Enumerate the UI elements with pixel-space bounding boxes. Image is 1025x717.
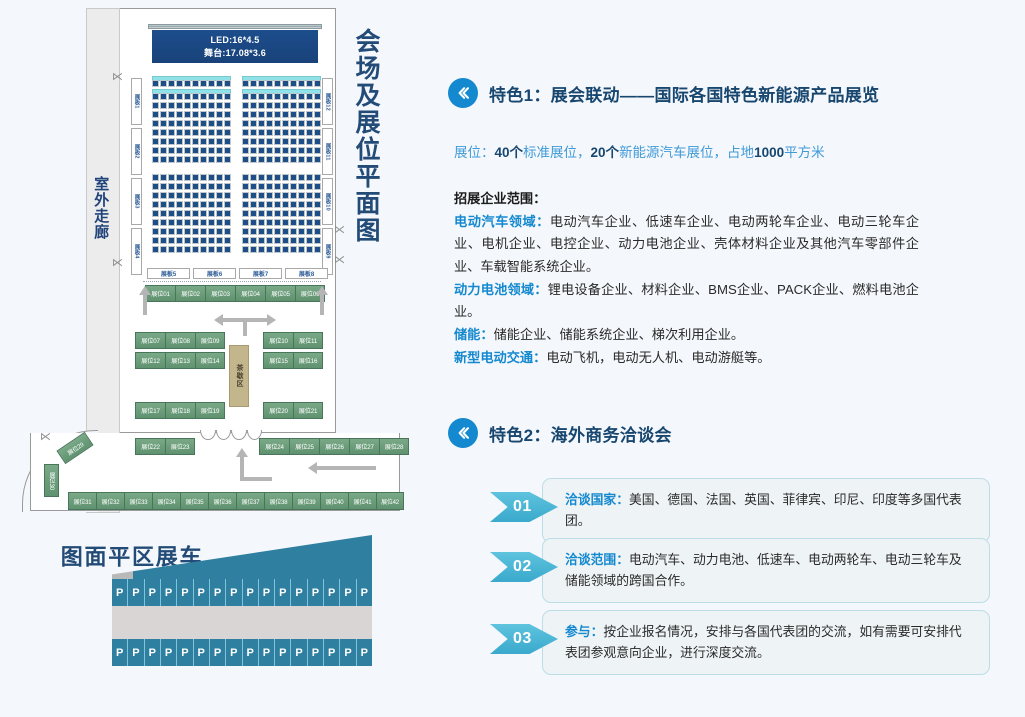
seat	[184, 210, 191, 217]
seat	[274, 93, 281, 100]
seat	[242, 210, 249, 217]
booth-36: 展位36	[208, 492, 236, 510]
parking-slot: P	[194, 579, 210, 606]
car-plan-roof	[112, 535, 372, 583]
seat	[184, 120, 191, 127]
booth-33: 展位33	[124, 492, 152, 510]
seat	[224, 192, 231, 199]
summary-standard-text: 标准展位，	[523, 145, 591, 160]
door-icon-right-top: ⋉	[334, 225, 345, 236]
seat	[160, 210, 167, 217]
seat	[242, 219, 249, 226]
seat	[274, 192, 281, 199]
seat	[152, 246, 159, 253]
seat	[168, 237, 175, 244]
seat	[298, 192, 305, 199]
seat	[224, 219, 231, 226]
seat	[208, 237, 215, 244]
seat	[266, 138, 273, 145]
seat	[306, 201, 313, 208]
seat	[282, 111, 289, 118]
seat	[242, 192, 249, 199]
seat	[274, 111, 281, 118]
seat	[216, 219, 223, 226]
seat	[152, 80, 159, 87]
parking-slot: P	[226, 639, 242, 666]
booth-14: 展位14	[195, 352, 225, 369]
seat-row	[242, 102, 321, 109]
content-panel: 特色1：展会联动——国际各国特色新能源产品展览 展位：40个标准展位，20个新能…	[440, 0, 1025, 717]
scope-category-label: 电动汽车领域：	[454, 214, 550, 229]
seat-row	[152, 102, 231, 109]
seat	[250, 147, 257, 154]
seat	[184, 219, 191, 226]
parking-slot: P	[194, 639, 210, 666]
seat	[242, 102, 249, 109]
seat	[160, 93, 167, 100]
card-number: 02	[513, 558, 532, 576]
booth-04: 展位04	[235, 285, 265, 302]
seat	[290, 129, 297, 136]
booth-row-22-23: 展位22展位23	[135, 438, 195, 455]
seat	[290, 192, 297, 199]
seat	[314, 102, 321, 109]
feature1-booth-summary: 展位：40个标准展位，20个新能源汽车展位，占地1000平方米	[454, 142, 825, 164]
seat	[250, 237, 257, 244]
scope-category: 新型电动交通：电动飞机，电动无人机、电动游艇等。	[454, 347, 919, 369]
parking-slot: P	[128, 639, 144, 666]
booth-row-12-14: 展位12展位13展位14	[135, 352, 225, 369]
seat	[160, 201, 167, 208]
booth-37: 展位37	[236, 492, 264, 510]
parking-slot: P	[112, 579, 128, 606]
seat	[258, 129, 265, 136]
seat	[314, 80, 321, 87]
parking-slot: P	[243, 579, 259, 606]
seat	[200, 237, 207, 244]
seat	[266, 246, 273, 253]
seat-row	[242, 111, 321, 118]
seat	[224, 201, 231, 208]
display-panel-left-2: 展板2	[131, 128, 142, 175]
seat	[160, 102, 167, 109]
seat	[152, 219, 159, 226]
seat	[192, 111, 199, 118]
seat	[216, 129, 223, 136]
seat	[290, 147, 297, 154]
seat	[152, 174, 159, 181]
seat	[184, 228, 191, 235]
seat	[168, 201, 175, 208]
seat	[192, 219, 199, 226]
seat-row	[242, 129, 321, 136]
seat	[258, 156, 265, 163]
seat	[274, 147, 281, 154]
seat	[152, 111, 159, 118]
seat	[184, 192, 191, 199]
display-panel-left-1: 展板1	[131, 78, 142, 125]
seat	[298, 111, 305, 118]
seat	[314, 120, 321, 127]
seat	[176, 183, 183, 190]
booth-39: 展位39	[292, 492, 320, 510]
seat	[192, 147, 199, 154]
seat	[282, 174, 289, 181]
parking-slot: P	[128, 579, 144, 606]
seat	[152, 138, 159, 145]
booth-17: 展位17	[135, 402, 165, 419]
seat	[306, 156, 313, 163]
scope-category-label: 储能：	[454, 327, 494, 342]
seat	[160, 174, 167, 181]
seating-block-right	[242, 76, 321, 253]
seat	[192, 174, 199, 181]
display-panel-bottom-3: 展板7	[239, 268, 282, 279]
seat	[258, 120, 265, 127]
seat	[168, 246, 175, 253]
card-text: 按企业报名情况，安排与各国代表团的交流，如有需要可安排代表团参观意向企业，进行深…	[565, 624, 962, 660]
seat	[176, 93, 183, 100]
seat	[192, 93, 199, 100]
booth-row-17-19: 展位17展位18展位19	[135, 402, 225, 419]
seat	[216, 183, 223, 190]
seat	[298, 210, 305, 217]
seat	[298, 201, 305, 208]
seat	[208, 80, 215, 87]
seat	[274, 246, 281, 253]
seat	[184, 102, 191, 109]
seat	[176, 129, 183, 136]
seat	[168, 138, 175, 145]
seat	[290, 183, 297, 190]
card-body: 洽谈国家：美国、德国、法国、英国、菲律宾、印尼、印度等多国代表团。	[542, 478, 990, 543]
card-body: 洽谈范围：电动汽车、动力电池、低速车、电动两轮车、电动三轮车及储能领域的跨国合作…	[542, 538, 990, 603]
seat	[298, 246, 305, 253]
seat	[242, 156, 249, 163]
seat	[258, 93, 265, 100]
seat	[282, 192, 289, 199]
seat	[314, 147, 321, 154]
booth-09: 展位09	[195, 332, 225, 349]
seat	[200, 111, 207, 118]
seat	[176, 237, 183, 244]
flow-arrow-up-right	[316, 286, 328, 295]
seat-row	[152, 210, 231, 217]
flow-arrow-up-entrance	[236, 448, 248, 457]
seat	[250, 219, 257, 226]
booth-08: 展位08	[165, 332, 195, 349]
booth-11: 展位11	[293, 332, 323, 349]
seat	[200, 219, 207, 226]
negotiation-card: 03 参与：按企业报名情况，安排与各国代表团的交流，如有需要可安排代表团参观意向…	[490, 610, 990, 675]
seat	[200, 201, 207, 208]
stage-size: 舞台:17.08*3.6	[204, 47, 266, 59]
scope-category: 电动汽车领域：电动汽车企业、低速车企业、电动两轮车企业、电动三轮车企业、电机企业…	[454, 211, 919, 278]
seat	[200, 102, 207, 109]
seat	[208, 192, 215, 199]
seat	[282, 237, 289, 244]
seat-row	[242, 219, 321, 226]
seat	[250, 183, 257, 190]
parking-slot: P	[275, 579, 291, 606]
outdoor-corridor-label: 室外走廊	[92, 176, 108, 240]
seat	[168, 183, 175, 190]
booth-07: 展位07	[135, 332, 165, 349]
seat	[242, 138, 249, 145]
seat	[208, 138, 215, 145]
aisle-gap	[152, 165, 231, 172]
seat	[168, 111, 175, 118]
booth-19: 展位19	[195, 402, 225, 419]
seat	[266, 147, 273, 154]
parking-slot: P	[291, 579, 307, 606]
booth-27: 展位27	[349, 438, 379, 455]
seat	[168, 129, 175, 136]
seat	[152, 210, 159, 217]
seat	[250, 174, 257, 181]
seat-row	[152, 120, 231, 127]
seat	[314, 93, 321, 100]
seat	[306, 102, 313, 109]
seat	[266, 156, 273, 163]
seat-row	[152, 228, 231, 235]
seat	[224, 156, 231, 163]
seat	[250, 129, 257, 136]
seat	[192, 228, 199, 235]
seat-row	[242, 174, 321, 181]
parking-slot: P	[357, 639, 372, 666]
seat	[192, 237, 199, 244]
seat	[290, 228, 297, 235]
seat	[176, 174, 183, 181]
seat	[274, 120, 281, 127]
seat	[160, 138, 167, 145]
seat	[242, 111, 249, 118]
seat	[176, 228, 183, 235]
seat	[216, 228, 223, 235]
seat	[160, 237, 167, 244]
seat	[168, 192, 175, 199]
double-chevron-left-icon	[448, 78, 478, 108]
booth-10: 展位10	[263, 332, 293, 349]
seat	[160, 147, 167, 154]
parking-slot: P	[145, 639, 161, 666]
seat	[250, 201, 257, 208]
flow-arrow-up-left	[139, 286, 151, 295]
card-label: 洽谈国家：	[565, 492, 629, 507]
seat	[314, 237, 321, 244]
parking-row-bottom: PPPPPPPPPPPPPPPP	[112, 639, 372, 666]
seat	[200, 138, 207, 145]
seat	[250, 228, 257, 235]
seat-row	[242, 246, 321, 253]
parking-slot: P	[291, 639, 307, 666]
seat-row	[242, 156, 321, 163]
seat	[192, 138, 199, 145]
seat	[168, 174, 175, 181]
booth-18: 展位18	[165, 402, 195, 419]
seat	[290, 102, 297, 109]
seat	[266, 129, 273, 136]
scope-category: 储能：储能企业、储能系统企业、梯次利用企业。	[454, 324, 919, 346]
seat	[192, 210, 199, 217]
seat	[298, 174, 305, 181]
seat	[152, 201, 159, 208]
booth-42: 展位42	[376, 492, 404, 510]
booth-30: 展位30	[44, 464, 59, 497]
seat	[160, 246, 167, 253]
seat	[192, 102, 199, 109]
card-body: 参与：按企业报名情况，安排与各国代表团的交流，如有需要可安排代表团参观意向企业，…	[542, 610, 990, 675]
seat	[200, 93, 207, 100]
seat	[200, 129, 207, 136]
door-icon-left-bottom: ⋉	[112, 258, 123, 269]
seat	[282, 93, 289, 100]
seat	[258, 192, 265, 199]
seat	[184, 174, 191, 181]
parking-row-top: PPPPPPPPPPPPPPPP	[112, 579, 372, 606]
booth-40: 展位40	[320, 492, 348, 510]
seat	[152, 102, 159, 109]
seat	[298, 237, 305, 244]
scope-category-text: 电动飞机，电动无人机、电动游艇等。	[546, 350, 770, 365]
seat	[274, 138, 281, 145]
feature2-title: 特色2：海外商务洽谈会	[489, 421, 672, 446]
summary-area-unit: 平方米	[784, 145, 825, 160]
booth-02: 展位02	[175, 285, 205, 302]
seat	[282, 138, 289, 145]
booth-28: 展位28	[379, 438, 409, 455]
seat-row	[152, 138, 231, 145]
seat-row	[242, 210, 321, 217]
seat	[242, 93, 249, 100]
parking-slot: P	[324, 579, 340, 606]
seat	[266, 237, 273, 244]
seat	[184, 80, 191, 87]
seat	[250, 156, 257, 163]
booth-22: 展位22	[135, 438, 165, 455]
seat	[200, 192, 207, 199]
seat	[290, 201, 297, 208]
seat	[290, 80, 297, 87]
parking-slot: P	[177, 639, 193, 666]
parking-slot: P	[112, 639, 128, 666]
seat	[176, 192, 183, 199]
summary-ev-text: 新能源汽车展位，占地	[619, 145, 754, 160]
seat	[224, 246, 231, 253]
stage-led-screen: LED:16*4.5 舞台:17.08*3.6	[152, 30, 318, 63]
seat	[200, 246, 207, 253]
parking-slot: P	[259, 579, 275, 606]
seat	[152, 93, 159, 100]
booth-26: 展位26	[319, 438, 349, 455]
seat	[242, 246, 249, 253]
parking-slot: P	[259, 639, 275, 666]
seat	[200, 210, 207, 217]
seat	[314, 201, 321, 208]
panel-divider-line	[143, 281, 321, 282]
seat	[176, 147, 183, 154]
seat	[168, 147, 175, 154]
seat	[216, 120, 223, 127]
seat-row	[242, 201, 321, 208]
seat-row	[242, 183, 321, 190]
seat	[224, 80, 231, 87]
seat	[290, 138, 297, 145]
booth-15: 展位15	[263, 352, 293, 369]
seat	[224, 228, 231, 235]
seat	[314, 156, 321, 163]
seat	[258, 80, 265, 87]
seat	[298, 138, 305, 145]
seat	[168, 156, 175, 163]
booth-row-10-11: 展位10展位11	[263, 332, 323, 349]
vip-seat-row	[152, 89, 231, 99]
seat	[242, 174, 249, 181]
seat	[152, 192, 159, 199]
seat	[184, 129, 191, 136]
display-panel-right-2: 展板11	[322, 128, 333, 175]
seat	[152, 183, 159, 190]
seat	[216, 174, 223, 181]
seat	[266, 102, 273, 109]
booth-23: 展位23	[165, 438, 195, 455]
seat	[192, 192, 199, 199]
summary-ev-count: 20个	[591, 145, 620, 160]
display-panel-left-4: 展板4	[131, 228, 142, 275]
seat-row	[242, 147, 321, 154]
seat	[282, 80, 289, 87]
seat	[152, 228, 159, 235]
car-exhibition-plan: PPPPPPPPPPPPPPPP PPPPPPPPPPPPPPPP	[112, 535, 372, 680]
seat	[242, 147, 249, 154]
seat	[152, 237, 159, 244]
seat	[282, 183, 289, 190]
seat	[200, 120, 207, 127]
seat	[224, 138, 231, 145]
door-icon-left-top: ⋉	[112, 72, 123, 83]
seat	[224, 102, 231, 109]
scope-category-label: 动力电池领域：	[454, 282, 548, 297]
seat	[274, 183, 281, 190]
seat	[266, 80, 273, 87]
seat	[258, 183, 265, 190]
seat	[266, 120, 273, 127]
seat	[282, 201, 289, 208]
seat	[306, 174, 313, 181]
seat	[258, 219, 265, 226]
seat	[216, 111, 223, 118]
booth-24: 展位24	[259, 438, 289, 455]
vip-seat-row	[242, 76, 321, 86]
seat	[160, 156, 167, 163]
seat	[282, 219, 289, 226]
seat	[274, 210, 281, 217]
seat	[314, 174, 321, 181]
seat	[242, 237, 249, 244]
flow-arrow-horizontal	[214, 314, 276, 326]
seat	[266, 201, 273, 208]
seat	[184, 138, 191, 145]
hall-plan-title: 会场及展位平面图	[352, 28, 379, 244]
seat	[258, 147, 265, 154]
display-panel-bottom-1: 展板5	[147, 268, 190, 279]
seat	[306, 219, 313, 226]
seat-row	[152, 237, 231, 244]
seat	[290, 93, 297, 100]
seating-block-left	[152, 76, 231, 253]
seat-row	[242, 192, 321, 199]
